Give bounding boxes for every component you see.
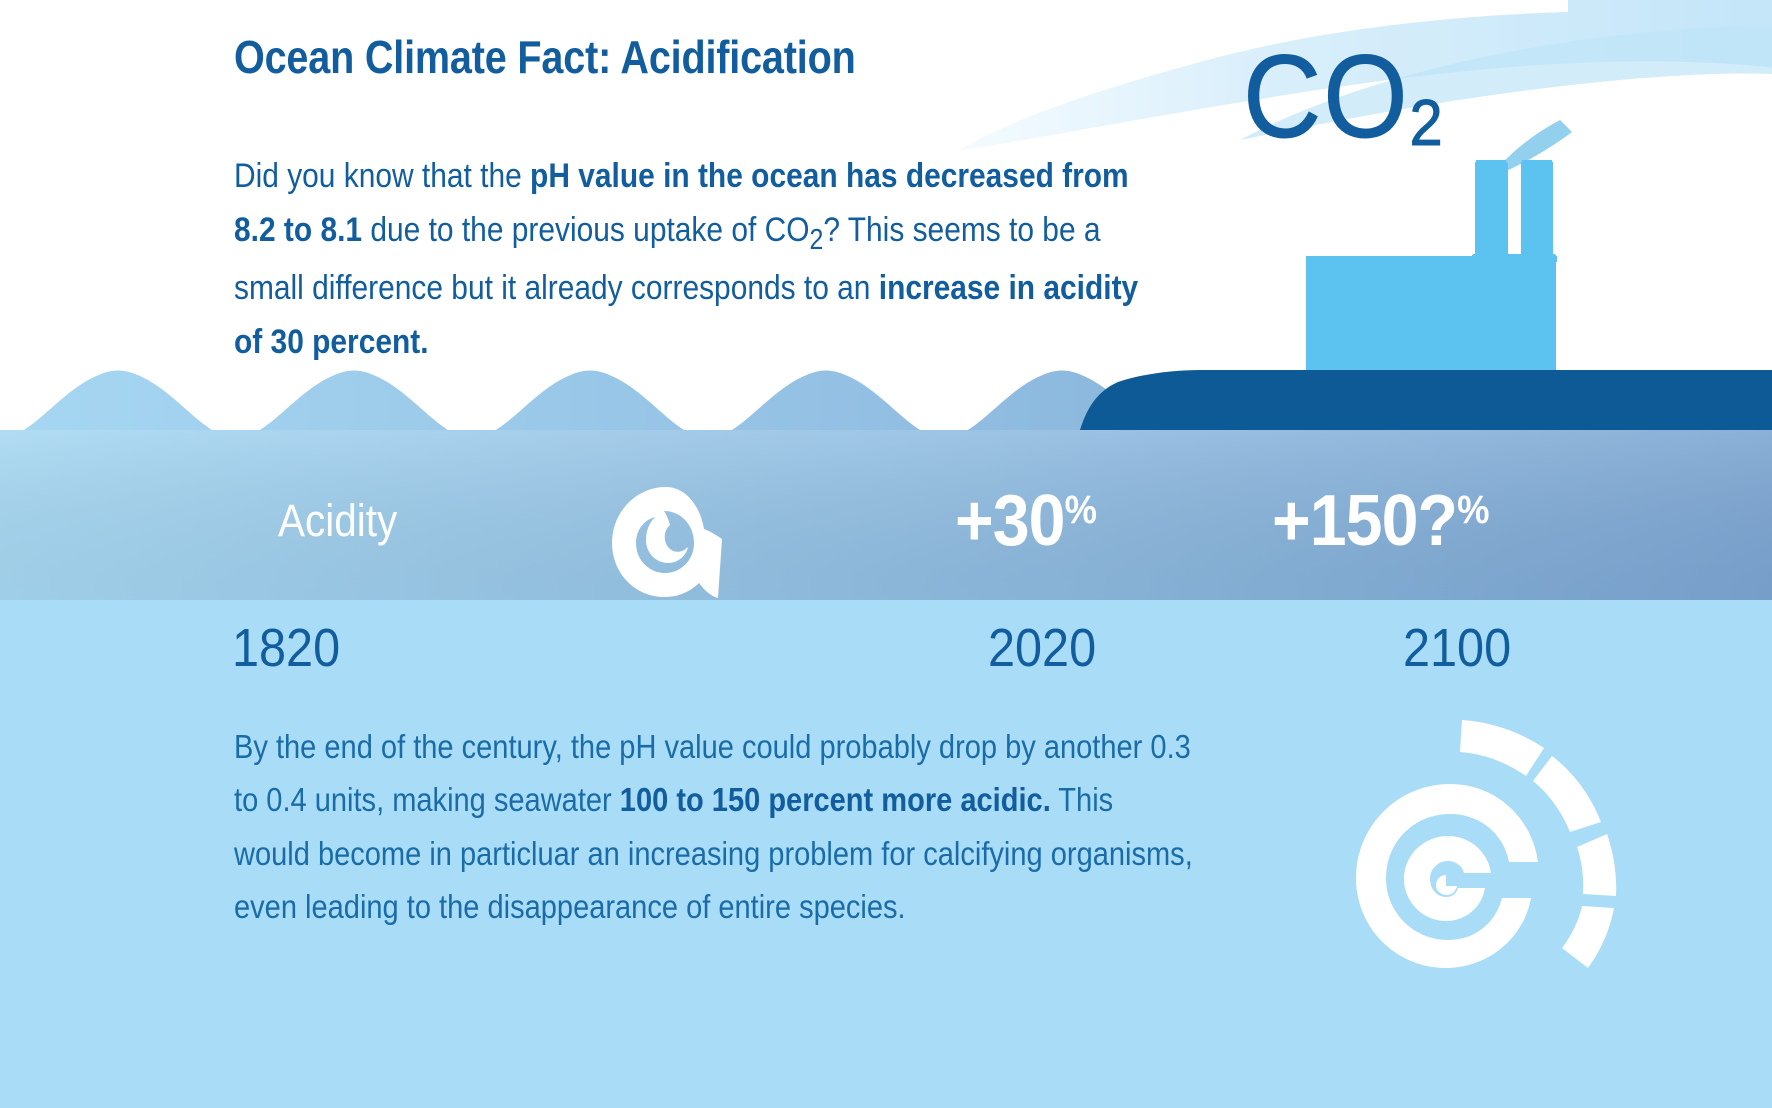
- value-2100: +150?%: [1272, 480, 1489, 562]
- year-label-2020: 2020: [988, 617, 1096, 679]
- intro-segment-0: Did you know that the: [234, 157, 530, 195]
- ship-hull: [1080, 370, 1772, 430]
- value-2020-number: +30: [955, 481, 1065, 561]
- cargo-ship-icon: [1080, 160, 1772, 430]
- value-2020-unit: %: [1065, 488, 1096, 532]
- year-label-1820: 1820: [232, 617, 340, 679]
- year-label-2100: 2100: [1403, 617, 1511, 679]
- page-title: Ocean Climate Fact: Acidification: [234, 30, 856, 84]
- outro-segment-1: 100 to 150 percent more acidic.: [620, 781, 1051, 818]
- co2-subscript: 2: [1410, 86, 1445, 159]
- intro-paragraph: Did you know that the pH value in the oc…: [234, 150, 1167, 370]
- co2-letters: CO: [1243, 31, 1410, 163]
- value-2020: +30%: [955, 480, 1096, 562]
- value-2100-number: +150?: [1272, 481, 1457, 561]
- value-2100-unit: %: [1457, 488, 1488, 532]
- outro-paragraph: By the end of the century, the pH value …: [234, 720, 1193, 934]
- intro-segment-3: 2: [809, 224, 823, 256]
- ship-superstructure: [1306, 256, 1556, 380]
- intro-segment-2: due to the previous uptake of CO: [362, 211, 809, 249]
- co2-formula-mark: CO2: [1243, 38, 1445, 156]
- axis-label-acidity: Acidity: [278, 495, 397, 547]
- infographic-canvas: Ocean Climate Fact: Acidification Did yo…: [0, 0, 1772, 1108]
